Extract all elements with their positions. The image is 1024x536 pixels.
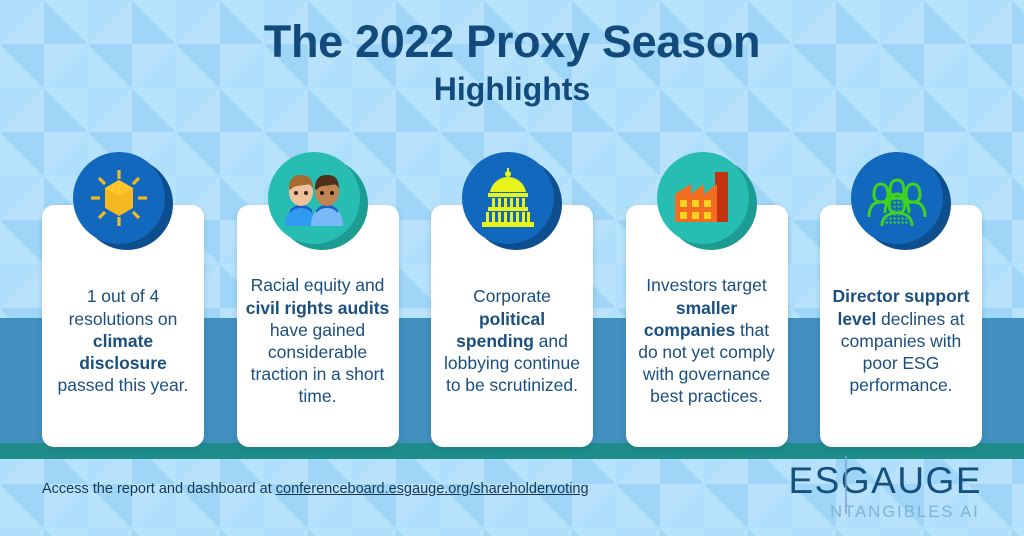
header: The 2022 Proxy Season Highlights (0, 18, 1024, 109)
report-dashboard-link[interactable]: conferenceboard.esgauge.org/shareholderv… (276, 481, 589, 497)
card-icon-badge (73, 152, 173, 252)
card-text-run: have gained considerable traction in a s… (251, 320, 385, 407)
card-text: Director support level declines at compa… (820, 285, 982, 396)
infographic-canvas: The 2022 Proxy Season Highlights (0, 0, 1024, 536)
people-group-icon (865, 169, 929, 227)
page-title: The 2022 Proxy Season (0, 18, 1024, 67)
card-text-run: Corporate (473, 286, 551, 306)
highlight-card: Racial equity and civil rights audits ha… (237, 205, 399, 447)
logo-gauge-tick-icon (845, 456, 847, 514)
card-icon-badge (657, 152, 757, 252)
card-text-emphasis: climate disclosure (79, 331, 167, 373)
card-text-run: Investors target (646, 275, 766, 295)
badge-disc (851, 152, 943, 244)
badge-disc (462, 152, 554, 244)
highlight-card: 1 out of 4 resolutions on climate disclo… (42, 205, 204, 447)
footer-access-note: Access the report and dashboard at confe… (42, 481, 589, 497)
highlight-card: Investors target smaller companies that … (626, 205, 788, 447)
badge-disc (73, 152, 165, 244)
card-text-emphasis: civil rights audits (246, 298, 390, 318)
card-icon-badge (268, 152, 368, 252)
sun-hexagon-icon (88, 167, 150, 229)
capitol-building-icon (478, 167, 538, 229)
card-text: Investors target smaller companies that … (626, 274, 788, 407)
logo-wordmark-text: ESGAUGE (789, 460, 983, 501)
card-text-run: 1 out of 4 resolutions on (69, 286, 178, 328)
card-text-emphasis: political spending (456, 309, 545, 351)
card-text: Racial equity and civil rights audits ha… (237, 274, 399, 407)
card-text-emphasis: smaller companies (644, 298, 737, 340)
esgauge-logo: ESGAUGE NTANGIBLES AI (789, 462, 983, 521)
page-subtitle: Highlights (0, 69, 1024, 109)
card-icon-badge (851, 152, 951, 252)
highlight-card-row: 1 out of 4 resolutions on climate disclo… (42, 205, 982, 447)
factory-icon (671, 170, 735, 226)
highlight-card: Director support level declines at compa… (820, 205, 982, 447)
card-text: 1 out of 4 resolutions on climate disclo… (42, 285, 204, 396)
two-people-icon (281, 170, 347, 226)
card-text-run: passed this year. (58, 375, 189, 395)
badge-disc (657, 152, 749, 244)
highlight-card: Corporate political spending and lobbyin… (431, 205, 593, 447)
badge-disc (268, 152, 360, 244)
logo-wordmark: ESGAUGE (789, 462, 983, 499)
card-icon-badge (462, 152, 562, 252)
card-text: Corporate political spending and lobbyin… (431, 285, 593, 396)
logo-tagline: NTANGIBLES AI (789, 504, 981, 521)
card-text-run: Racial equity and (251, 275, 385, 295)
footer-note-prefix: Access the report and dashboard at (42, 481, 276, 497)
